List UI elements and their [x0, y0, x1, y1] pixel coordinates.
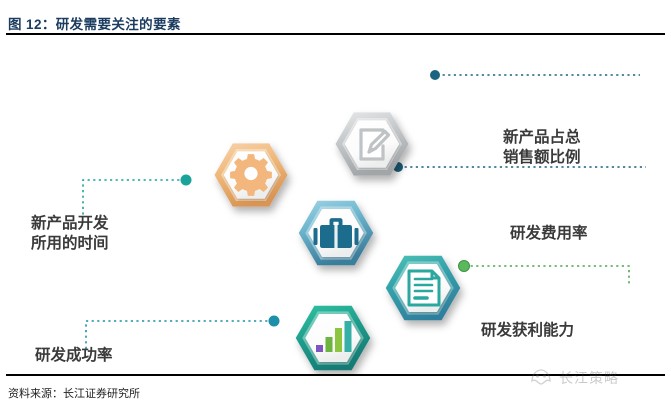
infographic-diagram: 新产品占总 销售额比例 研发费用率 研发获利能力 新产品开发 所用的时间 研发成… — [0, 36, 671, 374]
hexagon-node-edit-document[interactable] — [336, 112, 409, 175]
header-divider — [6, 33, 665, 35]
label-rd-expense-ratio: 研发费用率 — [510, 224, 588, 244]
report-document-icon — [409, 271, 439, 305]
hexagon-node-briefcase[interactable] — [299, 201, 374, 266]
hexagon-node-bar-chart[interactable] — [296, 306, 371, 371]
watermark-text: 长江策略 — [559, 368, 619, 388]
label-rd-success-rate: 研发成功率 — [35, 346, 113, 366]
gear-icon — [230, 154, 272, 196]
watermark: 长江策略 — [528, 363, 664, 393]
hexagon-node-report[interactable] — [386, 256, 461, 321]
hexagon-node-gear[interactable] — [215, 143, 288, 206]
label-rd-profitability: 研发获利能力 — [481, 321, 574, 341]
page-title: 图 12：研发需要关注的要素 — [8, 13, 181, 33]
label-rd-time: 新产品开发 所用的时间 — [31, 214, 109, 255]
label-new-product-share: 新产品占总 销售额比例 — [503, 128, 581, 169]
changjiang-logo-icon — [528, 367, 554, 389]
source-note: 资料来源：长江证券研究所 — [8, 385, 140, 401]
